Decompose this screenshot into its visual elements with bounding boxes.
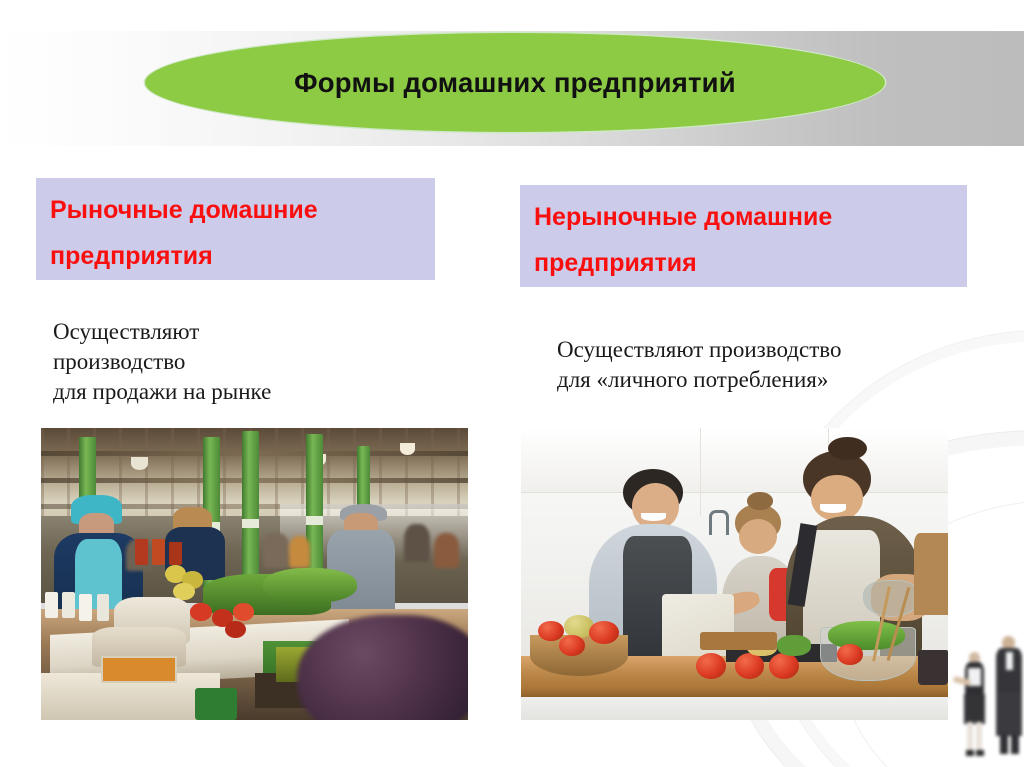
woman-hair-bun — [828, 437, 866, 460]
heading-line: предприятия — [50, 233, 435, 279]
bowl-tomato — [559, 635, 585, 655]
image-family-photo — [521, 428, 948, 720]
body-line: Осуществляют производство — [557, 335, 841, 365]
heading-line: Рыночные домашние — [50, 187, 435, 233]
market-tomato — [233, 603, 254, 621]
market-lamp-icon — [400, 443, 415, 455]
counter-pepper — [777, 635, 811, 655]
kitchen-faucet-icon — [709, 510, 729, 535]
man-face — [632, 483, 679, 530]
market-bottle — [62, 592, 75, 618]
market-spice-crate — [101, 656, 178, 683]
heading-line: Нерыночные домашние — [534, 194, 967, 240]
market-crowd-figure — [404, 524, 430, 562]
heading-box-non-market: Нерыночные домашние предприятия — [520, 185, 967, 287]
slide-canvas: Формы домашних предприятий Рыночные дома… — [0, 0, 1024, 767]
market-crowd-figure — [289, 536, 310, 568]
market-bottle — [45, 592, 58, 618]
market-bottle — [79, 594, 92, 620]
silhouette-person-right — [996, 636, 1024, 762]
body-text-non-market: Осуществляют производство для «личного п… — [557, 335, 841, 395]
market-herbs-pile — [263, 568, 357, 603]
body-text-market: Осуществляют производство для продажи на… — [53, 317, 271, 407]
market-jar — [169, 542, 182, 565]
heading-line: предприятия — [534, 240, 967, 286]
bowl-tomato — [538, 621, 564, 641]
body-line: производство — [53, 347, 271, 377]
silhouette-person-left — [962, 652, 988, 762]
body-line: для продажи на рынке — [53, 377, 271, 407]
market-jar — [152, 539, 165, 565]
market-crowd-figure — [263, 533, 289, 568]
salad-tomato — [837, 644, 863, 664]
counter-tomato — [769, 653, 799, 679]
body-line: для «личного потребления» — [557, 365, 841, 395]
page-title: Формы домашних предприятий — [145, 33, 885, 132]
girl-hair-bun — [747, 492, 773, 510]
kitchen-cabinet — [521, 428, 948, 493]
kitchen-floor — [521, 697, 948, 720]
kitchen-cup — [918, 650, 948, 685]
wooden-chair — [914, 533, 948, 615]
heading-box-market: Рыночные домашние предприятия — [36, 178, 435, 280]
cutting-board — [700, 632, 777, 650]
kitchen-cabinet-seam — [700, 428, 701, 516]
woman-smile — [820, 504, 846, 513]
market-tomato — [190, 603, 211, 621]
market-green-bucket — [195, 688, 238, 720]
market-tomato — [225, 621, 246, 639]
image-market-photo — [41, 428, 468, 720]
woman-glass-bowl — [863, 580, 921, 617]
woman-face — [811, 475, 862, 522]
bowl-tomato — [589, 621, 619, 644]
market-crowd-figure — [434, 533, 460, 568]
market-lamp-icon — [131, 457, 148, 470]
counter-tomato — [735, 653, 765, 679]
counter-tomato — [696, 653, 726, 679]
girl-face — [739, 519, 777, 554]
market-jar — [135, 539, 148, 565]
body-line: Осуществляют — [53, 317, 271, 347]
market-bottle — [97, 594, 110, 620]
